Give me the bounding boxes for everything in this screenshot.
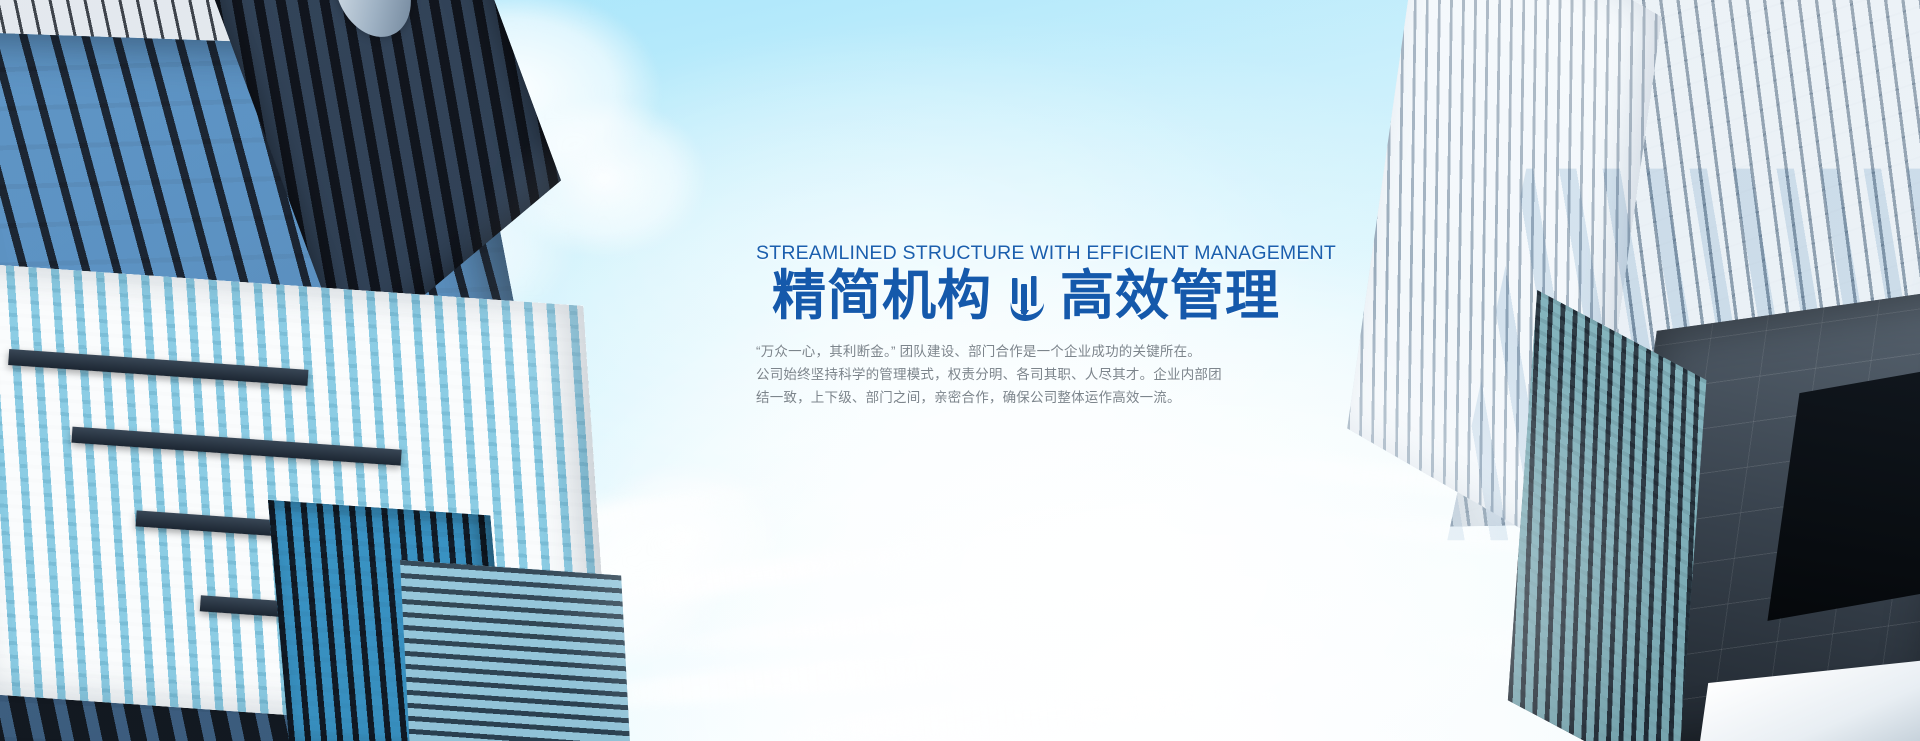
- cirrus-streak: [760, 681, 1321, 741]
- description-line: 公司始终坚持科学的管理模式，权责分明、各司其职、人尽其才。企业内部团: [756, 367, 1222, 382]
- hero-banner: STREAMLINED STRUCTURE WITH EFFICIENT MAN…: [0, 0, 1920, 741]
- description-line: 结一致，上下级、部门之间，亲密合作，确保公司整体运作高效一流。: [756, 390, 1181, 405]
- banner-headline: 精简机构 高效管理: [756, 268, 1296, 325]
- banner-description: “万众一心，其利断金。” 团队建设、部门合作是一个企业成功的关键所在。 公司始终…: [756, 340, 1296, 410]
- banner-eyebrow-text: STREAMLINED STRUCTURE WITH EFFICIENT MAN…: [756, 243, 1296, 264]
- headline-right-text: 高效管理: [1060, 268, 1280, 325]
- building-left-teal-slab-tower: [400, 560, 632, 741]
- headline-left-text: 精简机构: [772, 268, 992, 325]
- mountain-arrow-separator-icon: [1006, 276, 1046, 322]
- building-right-dark-stone-tower: [1503, 272, 1920, 741]
- description-line: “万众一心，其利断金。” 团队建设、部门合作是一个企业成功的关键所在。: [756, 344, 1201, 359]
- banner-copy-block: STREAMLINED STRUCTURE WITH EFFICIENT MAN…: [756, 243, 1296, 409]
- cirrus-streak: [620, 585, 1139, 661]
